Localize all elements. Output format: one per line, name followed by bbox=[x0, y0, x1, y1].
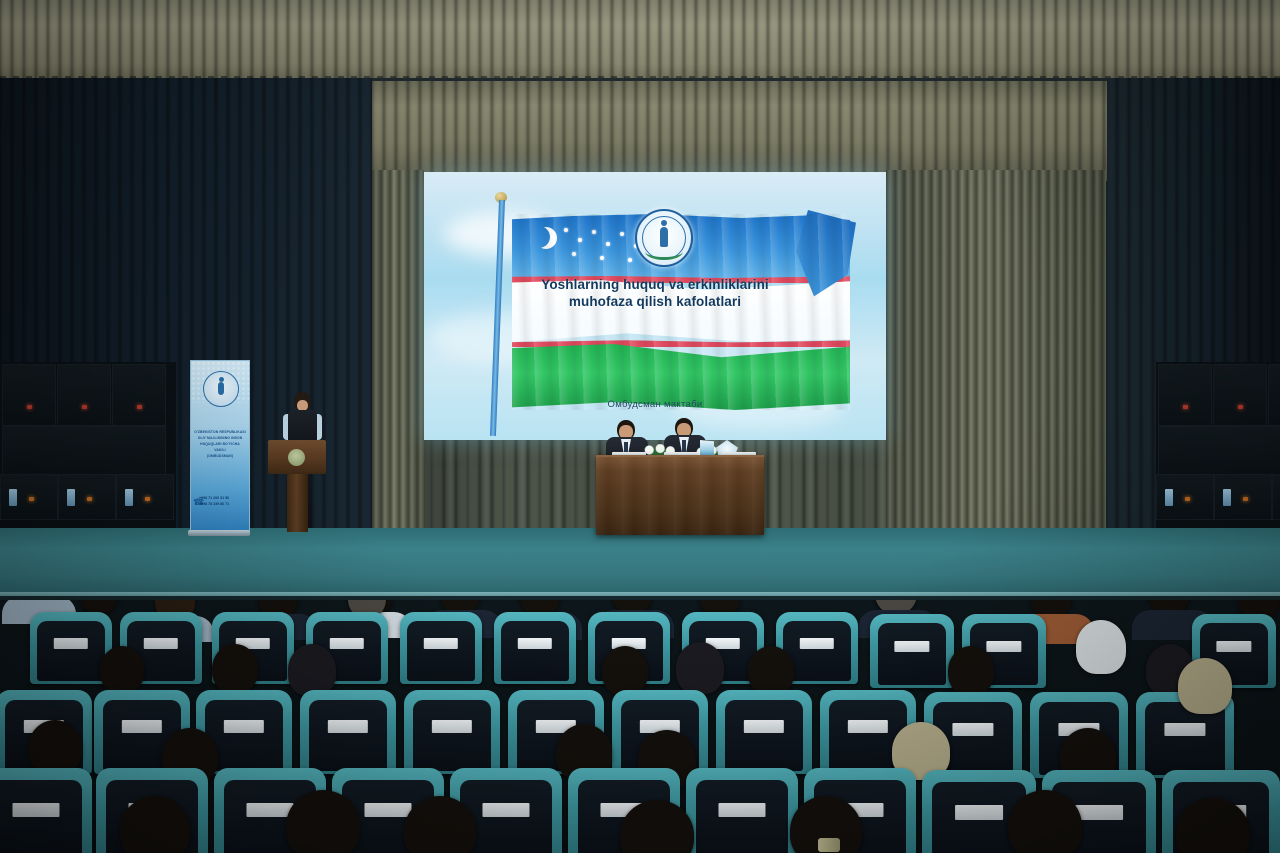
seat-pad bbox=[407, 621, 474, 681]
speaker-led-indicator bbox=[27, 405, 32, 409]
subwoofer-label bbox=[1165, 489, 1173, 506]
seat-number-plate bbox=[330, 638, 364, 649]
speaker-led-indicator bbox=[1183, 405, 1188, 409]
subwoofer-cabinet bbox=[58, 474, 116, 520]
seat-pad bbox=[413, 700, 492, 771]
speaker-cabinet bbox=[112, 364, 166, 426]
subwoofer-label bbox=[1223, 489, 1231, 506]
speaker-cabinet bbox=[1158, 364, 1212, 426]
podium-emblem-icon bbox=[288, 449, 305, 466]
auditorium-photo: Yoshlarning huquq va erkinliklarini muho… bbox=[0, 0, 1280, 853]
speaker-led-indicator bbox=[1238, 405, 1243, 409]
subwoofer-led-indicator bbox=[87, 497, 92, 501]
speaker-cabinet bbox=[2, 364, 56, 426]
audience-head bbox=[948, 646, 994, 696]
banner-stand-base bbox=[188, 530, 250, 536]
subwoofer-cabinet bbox=[1156, 474, 1214, 520]
audience-head bbox=[100, 646, 144, 694]
seat-number-plate bbox=[224, 720, 264, 733]
subwoofer-cabinet bbox=[1272, 474, 1280, 520]
audience-head-hijab bbox=[1076, 620, 1126, 674]
audience-head-hijab bbox=[288, 644, 336, 696]
audience-seat[interactable] bbox=[686, 768, 798, 853]
seat-pad bbox=[309, 700, 388, 771]
seat-number-plate bbox=[955, 805, 1003, 820]
audience-seat[interactable] bbox=[400, 612, 482, 684]
subwoofer-label bbox=[125, 489, 133, 506]
seat-pad bbox=[37, 621, 104, 681]
audience-seat[interactable] bbox=[0, 768, 92, 853]
seat-pad bbox=[501, 621, 568, 681]
emblem-wreath bbox=[645, 243, 683, 260]
screen-title-line-1: Yoshlarning huquq va erkinliklarini bbox=[424, 276, 886, 293]
seat-number-plate bbox=[800, 638, 834, 649]
right-speaker-stack bbox=[1156, 362, 1280, 532]
ombudsman-rollup-banner: O'ZBEKISTON RESPUBLIKASI OLIY MAJLISININ… bbox=[190, 360, 250, 534]
seated-audience bbox=[0, 600, 1280, 853]
seat-number-plate bbox=[328, 720, 368, 733]
upper-curtain-valance bbox=[0, 0, 1280, 82]
seat-number-plate bbox=[718, 803, 765, 817]
banner-line-4: (OMBUDSMAN) bbox=[194, 453, 246, 459]
subwoofer-label bbox=[9, 489, 17, 506]
audience-head bbox=[748, 646, 794, 696]
audience-seat[interactable] bbox=[494, 612, 576, 684]
subwoofer-cabinet bbox=[0, 474, 58, 520]
speaker-podium bbox=[268, 440, 326, 532]
seat-number-plate bbox=[1164, 723, 1205, 736]
audience-seat[interactable] bbox=[300, 690, 396, 774]
speaker-led-indicator bbox=[137, 405, 142, 409]
speaker-cabinet bbox=[1213, 364, 1267, 426]
banner-emblem-icon bbox=[203, 371, 239, 407]
seat-number-plate bbox=[432, 720, 472, 733]
subwoofer-label bbox=[67, 489, 75, 506]
ombudsman-emblem-icon bbox=[635, 209, 693, 267]
subwoofer-cabinet bbox=[1214, 474, 1272, 520]
subwoofer-led-indicator bbox=[145, 497, 150, 501]
seat-number-plate bbox=[482, 803, 529, 817]
speaker-cabinet bbox=[1268, 364, 1280, 426]
audience-seat[interactable] bbox=[870, 614, 954, 688]
seat-number-plate bbox=[848, 720, 888, 733]
right-side-curtain bbox=[886, 170, 1106, 540]
seat-number-plate bbox=[12, 803, 59, 817]
seat-number-plate bbox=[518, 638, 552, 649]
podium-top bbox=[268, 440, 326, 474]
seat-number-plate bbox=[1075, 805, 1123, 820]
audience-head bbox=[286, 790, 360, 853]
banner-line-3: HUQUQLARI BO'YICHA VAKILI bbox=[194, 441, 246, 453]
audience-head bbox=[602, 646, 648, 696]
seat-number-plate bbox=[424, 638, 458, 649]
proscenium-valance bbox=[372, 78, 1107, 181]
audience-head bbox=[212, 644, 258, 694]
stage-floor bbox=[0, 528, 1280, 598]
banner-phone-2: +998 78 239 86 71 bbox=[199, 501, 245, 507]
subwoofer-led-indicator bbox=[29, 497, 34, 501]
screen-title: Yoshlarning huquq va erkinliklarini muho… bbox=[424, 276, 886, 310]
screen-title-line-2: muhofaza qilish kafolatlari bbox=[424, 293, 886, 310]
seat-number-plate bbox=[952, 723, 993, 736]
seat-number-plate bbox=[986, 641, 1021, 652]
audience-seat[interactable] bbox=[404, 690, 500, 774]
podium-stem bbox=[287, 473, 308, 532]
audience-head bbox=[1008, 790, 1082, 853]
seat-number-plate bbox=[54, 638, 88, 649]
screen-subtitle: Омбудсман мактаби bbox=[424, 399, 886, 410]
valance-pleat-texture bbox=[0, 0, 1280, 82]
banner-emblem-figure bbox=[218, 382, 224, 395]
seat-number-plate bbox=[364, 803, 411, 817]
seat-number-plate bbox=[1216, 641, 1251, 652]
seat-number-plate bbox=[122, 720, 162, 733]
left-side-curtain bbox=[372, 170, 424, 540]
presentation-screen[interactable]: Yoshlarning huquq va erkinliklarini muho… bbox=[424, 172, 886, 440]
audience-head-hijab bbox=[1178, 658, 1232, 714]
subwoofer-led-indicator bbox=[1185, 497, 1190, 501]
subwoofer-led-indicator bbox=[1243, 497, 1248, 501]
seat-number-plate bbox=[744, 720, 784, 733]
speaker-midrow bbox=[1158, 426, 1280, 476]
left-speaker-stack bbox=[0, 362, 176, 532]
audience-seat[interactable] bbox=[716, 690, 812, 774]
seat-pad bbox=[725, 700, 804, 771]
hair-bow bbox=[818, 838, 840, 852]
banner-phone-block: +998 71 200 31 50 +998 78 239 86 71 bbox=[199, 495, 245, 507]
speaker-midrow bbox=[2, 426, 166, 476]
proscenium-pleats bbox=[372, 81, 1107, 181]
seat-pad bbox=[878, 623, 947, 685]
speaker-cabinet bbox=[57, 364, 111, 426]
speaker-led-indicator bbox=[82, 405, 87, 409]
seat-number-plate bbox=[144, 638, 178, 649]
subwoofer-cabinet bbox=[116, 474, 174, 520]
table-wood-grain bbox=[596, 457, 764, 535]
banner-text-block: O'ZBEKISTON RESPUBLIKASI OLIY MAJLISININ… bbox=[194, 429, 246, 459]
seat-number-plate bbox=[246, 803, 293, 817]
seat-number-plate bbox=[894, 641, 929, 652]
audience-head-hijab bbox=[676, 642, 724, 694]
presidium-table bbox=[596, 455, 764, 535]
